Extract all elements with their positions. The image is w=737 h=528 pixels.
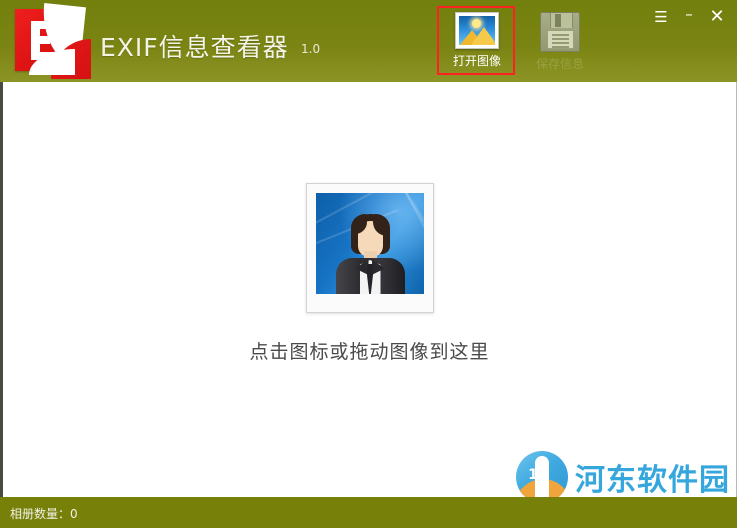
open-image-label: 打开图像 — [441, 52, 513, 69]
exif-viewer-window: EXIF信息查看器 1.0 打开图像 保存信息 ☰ – — [0, 0, 737, 528]
menu-icon[interactable]: ☰ — [647, 5, 675, 29]
app-title: EXIF信息查看器 — [100, 28, 289, 64]
minimize-icon[interactable]: – — [675, 2, 703, 32]
open-image-button[interactable]: 打开图像 — [441, 12, 513, 69]
album-count-status: 相册数量：0 — [10, 505, 78, 522]
content-area: 点击图标或拖动图像到这里 1 河东软件园 — [0, 82, 737, 497]
title-bar: EXIF信息查看器 1.0 打开图像 保存信息 ☰ – — [0, 0, 737, 82]
close-icon[interactable]: ✕ — [703, 5, 731, 29]
image-drop-zone[interactable]: 点击图标或拖动图像到这里 — [3, 82, 736, 364]
watermark-badge-number: 1 — [524, 466, 542, 484]
app-version: 1.0 — [301, 42, 320, 56]
window-controls: ☰ – ✕ — [647, 2, 731, 32]
picture-icon — [455, 12, 499, 49]
floppy-disk-icon — [540, 12, 580, 52]
person-photo-icon[interactable] — [306, 183, 434, 313]
save-info-label: 保存信息 — [524, 55, 596, 72]
watermark: 1 河东软件园 — [516, 451, 730, 497]
drop-hint-text: 点击图标或拖动图像到这里 — [3, 337, 736, 364]
watermark-logo-icon: 1 — [516, 451, 568, 497]
app-logo-icon — [15, 9, 76, 71]
status-bar: 相册数量：0 www.pc0359.cn — [0, 497, 737, 528]
watermark-text: 河东软件园 — [575, 455, 730, 497]
save-info-button[interactable]: 保存信息 — [524, 12, 596, 72]
